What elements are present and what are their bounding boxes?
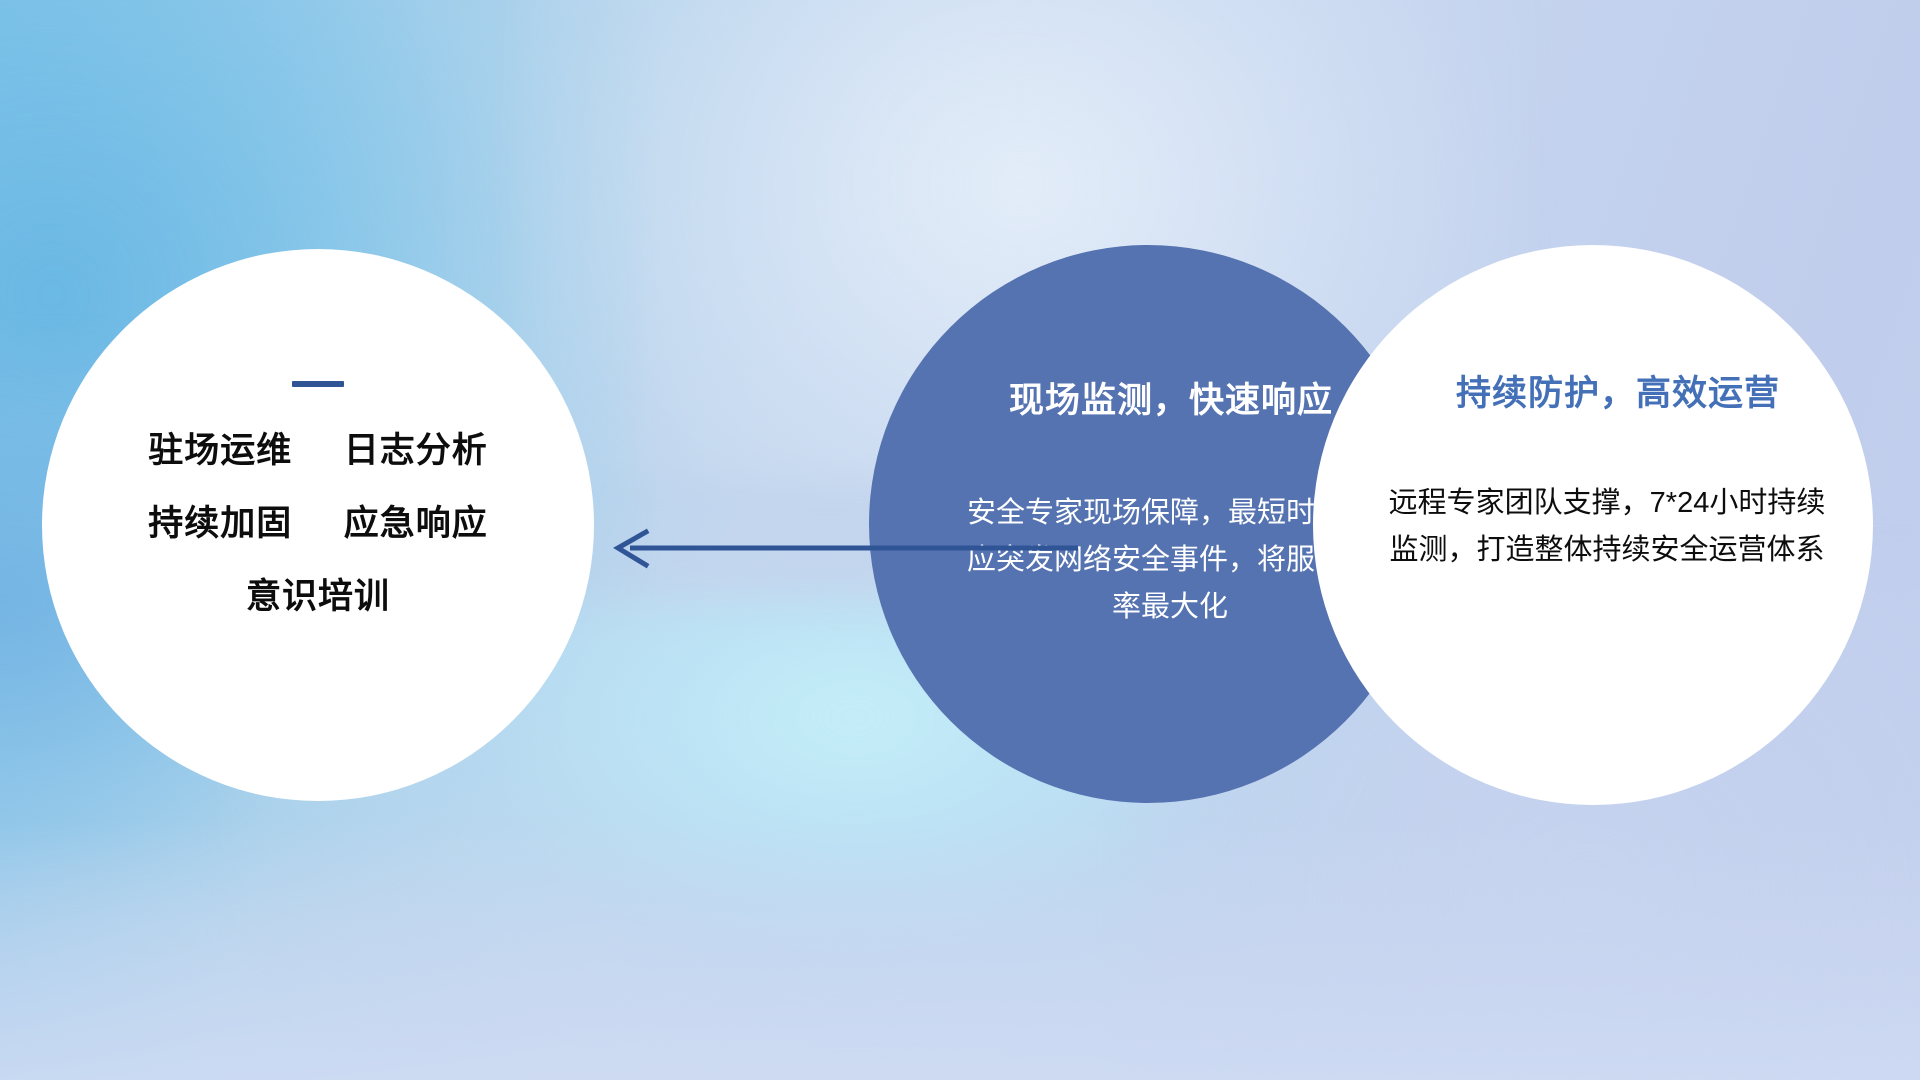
continuous-protection-title: 持续防护，高效运营 — [1313, 365, 1873, 416]
title-divider — [292, 381, 344, 387]
keyword-row: 驻场运维 日志分析 — [42, 433, 594, 468]
leftward-arrow — [600, 518, 1080, 578]
background-band-bottom — [0, 820, 1920, 1080]
keyword-row: 意识培训 — [42, 579, 594, 614]
slide-canvas: 驻场运维 日志分析 持续加固 应急响应 意识培训 现场监测，快速响应 安全专家现… — [0, 0, 1920, 1080]
continuous-protection-circle[interactable]: 持续防护，高效运营 远程专家团队支撑，7*24小时持续监测，打造整体持续安全运营… — [1313, 245, 1873, 805]
keyword-label: 日志分析 — [344, 431, 488, 470]
keyword-label: 意识培训 — [246, 577, 390, 616]
keyword-label: 持续加固 — [148, 504, 292, 543]
keyword-row: 持续加固 应急响应 — [42, 506, 594, 541]
keyword-label: 驻场运维 — [148, 431, 292, 470]
continuous-protection-body: 远程专家团队支撑，7*24小时持续监测，打造整体持续安全运营体系 — [1313, 480, 1873, 574]
keyword-label: 应急响应 — [344, 504, 488, 543]
leftward-arrow-icon — [600, 518, 1080, 578]
capabilities-content: 驻场运维 日志分析 持续加固 应急响应 意识培训 — [42, 381, 594, 614]
capabilities-circle[interactable]: 驻场运维 日志分析 持续加固 应急响应 意识培训 — [42, 249, 594, 801]
